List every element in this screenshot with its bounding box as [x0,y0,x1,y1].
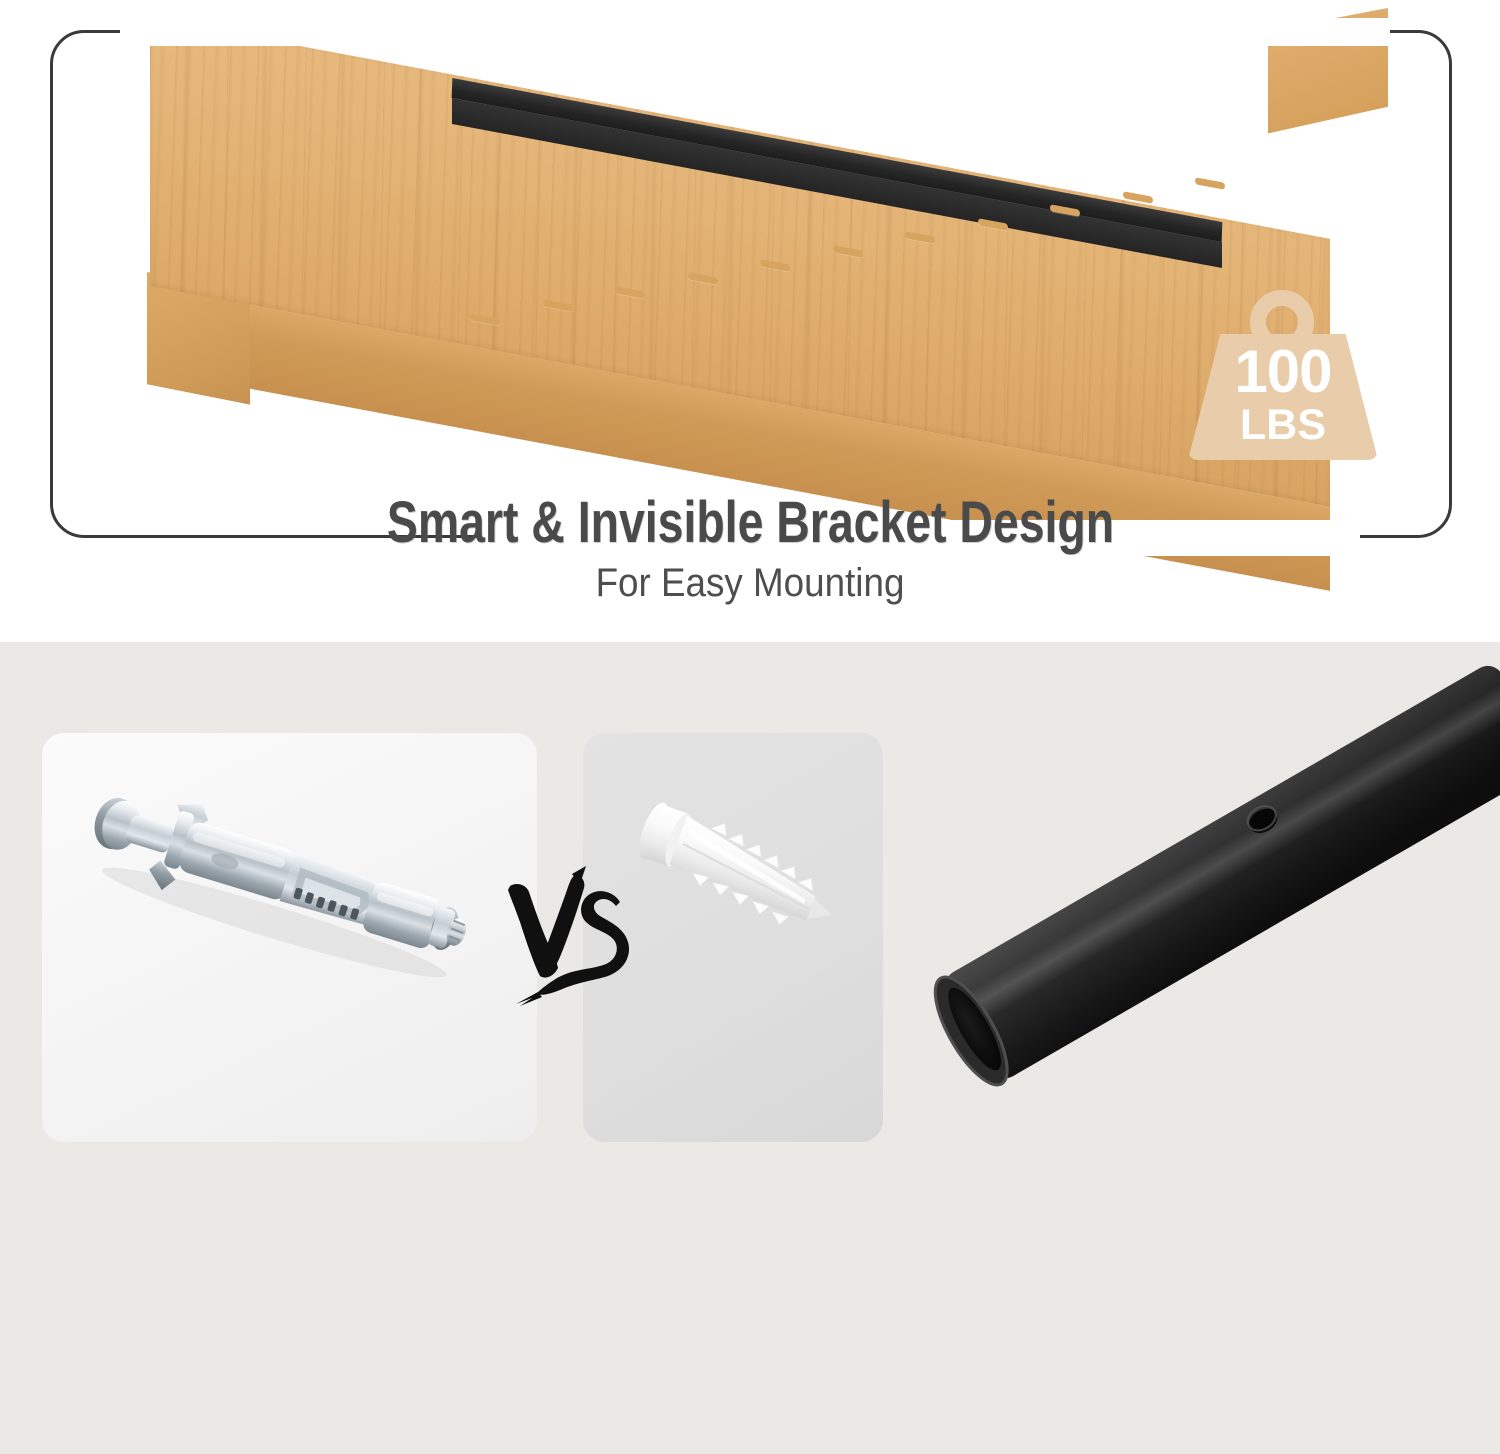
page-subtitle: For Easy Mounting [60,561,1440,606]
weight-unit: LBS [1188,404,1378,447]
headline-block: Smart & Invisible Bracket Design For Eas… [0,492,1500,606]
product-marketing-image: 100 LBS Smart & Invisible Bracket Design… [0,0,1500,1454]
weight-badge-text: 100 LBS [1188,342,1378,447]
weight-value: 100 [1188,342,1378,402]
materials-section: Upgrade Metal Anchors heavy-duty Made of… [0,642,1500,1454]
bracket-slot [1195,177,1225,190]
vs-comparison-icon [502,864,632,1014]
page-title: Smart & Invisible Bracket Design [386,492,1113,553]
bracket-design-section: 100 LBS Smart & Invisible Bracket Design… [0,0,1500,642]
weight-capacity-badge: 100 LBS [1188,290,1378,460]
iron-tube-illustration [830,642,1500,1202]
frame-top-gap-mask [120,18,1390,46]
metal-anchor-illustration [70,772,500,1002]
